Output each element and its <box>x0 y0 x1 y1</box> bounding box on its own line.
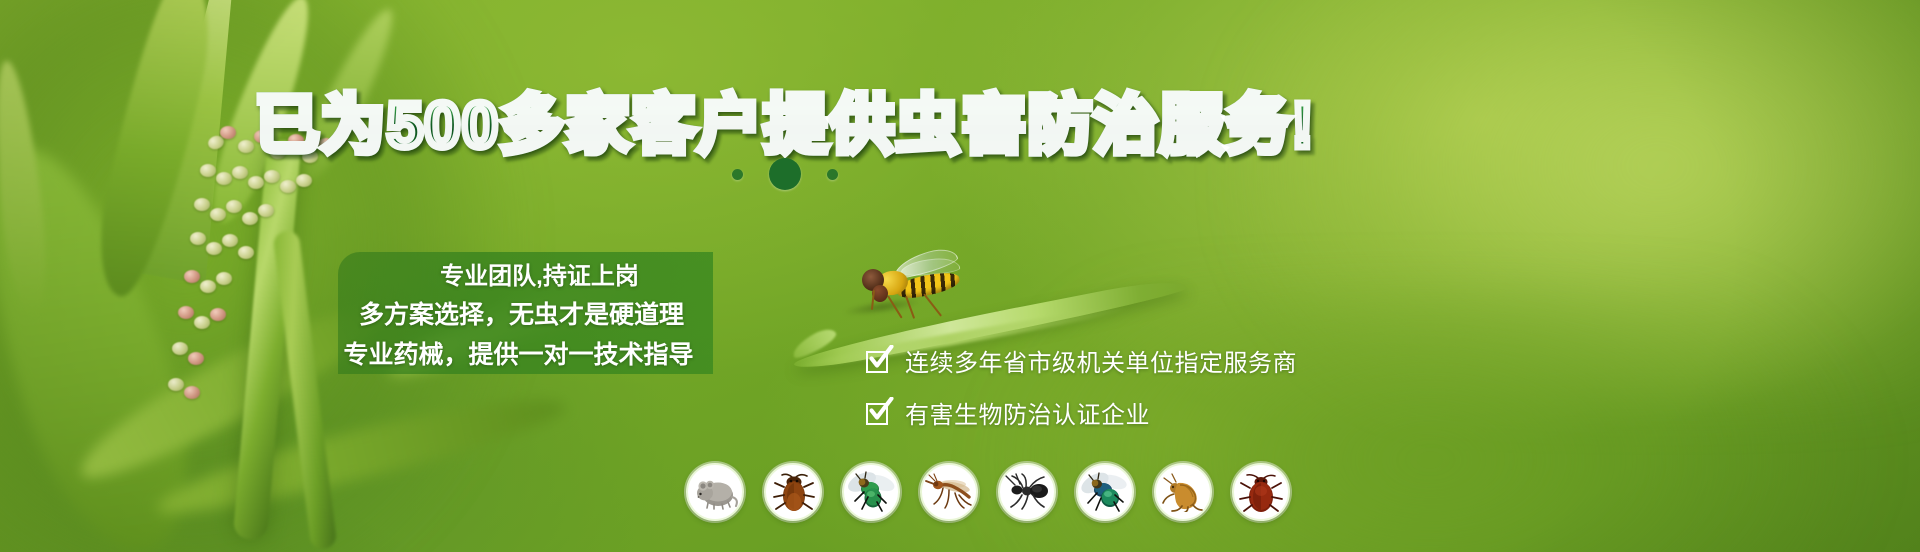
features-panel-text: 专业团队,持证上岗 多方案选择，无虫才是硬道理 专业药械，提供一对一技术指导 <box>338 252 713 374</box>
bedbug-icon[interactable] <box>1232 463 1290 521</box>
list-item-label: 连续多年省市级机关单位指定服务商 <box>905 343 1297 378</box>
promo-banner: 已为500多家客户提供虫害防治服务! 已为500多家客户提供虫害防治服务! 专业… <box>0 0 1920 552</box>
cockroach-icon[interactable] <box>764 463 822 521</box>
list-item-label: 有害生物防治认证企业 <box>905 395 1150 430</box>
ant-icon[interactable] <box>998 463 1056 521</box>
feature-line-1: 专业团队,持证上岗 <box>338 256 699 291</box>
checkbox-checked-icon <box>866 400 891 425</box>
hoverfly-leg <box>923 293 942 316</box>
pest-icon-row <box>686 463 1290 521</box>
list-item: 连续多年省市级机关单位指定服务商 <box>866 334 1426 386</box>
decorative-dots <box>0 158 1570 190</box>
dot-small-right-icon <box>827 169 838 180</box>
dot-small-left-icon <box>732 169 743 180</box>
feature-line-2: 多方案选择，无虫才是硬道理 <box>338 295 699 331</box>
hoverfly-leg <box>887 295 902 318</box>
checkbox-checked-icon <box>866 348 891 373</box>
certification-list: 连续多年省市级机关单位指定服务商 有害生物防治认证企业 <box>866 334 1426 438</box>
blue-fly-icon[interactable] <box>1076 463 1134 521</box>
page-title: 已为500多家客户提供虫害防治服务! <box>0 74 1570 166</box>
hoverfly-icon <box>850 255 970 321</box>
dot-large-center-icon <box>769 158 801 190</box>
hoverfly-head <box>862 269 884 291</box>
green-fly-icon[interactable] <box>842 463 900 521</box>
mouse-icon[interactable] <box>686 463 744 521</box>
feature-line-3: 专业药械，提供一对一技术指导 <box>338 335 699 371</box>
mosquito-icon[interactable] <box>920 463 978 521</box>
hoverfly-leg <box>905 296 915 319</box>
flea-icon[interactable] <box>1154 463 1212 521</box>
list-item: 有害生物防治认证企业 <box>866 386 1426 438</box>
